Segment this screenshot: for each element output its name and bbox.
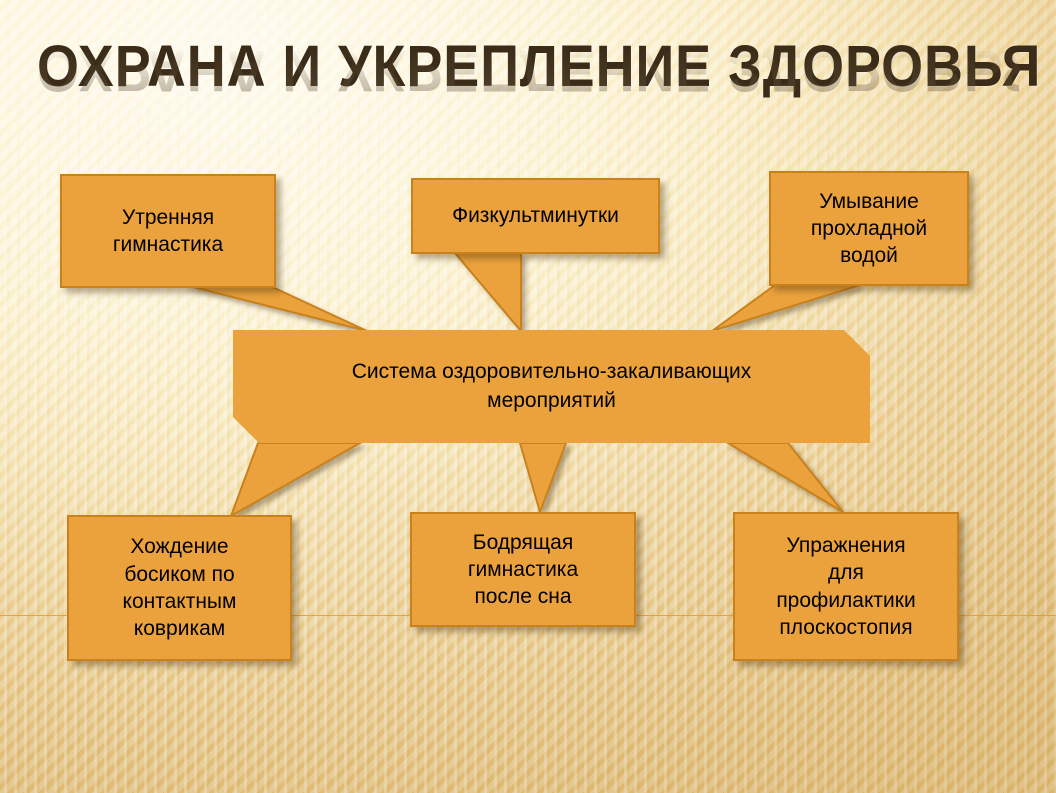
node-invigorating-gym[interactable]: Бодрящая гимнастика после сна (410, 512, 636, 627)
tail-fitness-minutes (455, 253, 521, 331)
node-center-system-label: Система оздоровительно-закаливающих меро… (233, 358, 870, 415)
tail-flatfoot-prevention (728, 443, 843, 512)
node-cool-water-washing-label: Умывание прохладной водой (811, 188, 927, 270)
node-flatfoot-prevention-label: Упражнения для профилактики плоскостопия (776, 532, 915, 641)
node-morning-gymnastics[interactable]: Утренняя гимнастика (60, 174, 276, 288)
title-reflection: ОХРАНА И УКРЕПЛЕНИЕ ЗДОРОВЬЯ (37, 41, 1019, 99)
node-cool-water-washing[interactable]: Умывание прохладной водой (769, 171, 969, 286)
slide-canvas: ОХРАНА И УКРЕПЛЕНИЕ ЗДОРОВЬЯ ОХРАНА И УК… (0, 0, 1056, 793)
tail-morning-gymnastics (185, 285, 367, 331)
node-invigorating-gym-label: Бодрящая гимнастика после сна (468, 529, 578, 611)
tail-cool-water-washing (712, 285, 860, 331)
page-title: ОХРАНА И УКРЕПЛЕНИЕ ЗДОРОВЬЯ ОХРАНА И УК… (0, 38, 1056, 157)
node-fitness-minutes-label: Физкультминутки (452, 202, 619, 229)
node-barefoot-mats[interactable]: Хождение босиком по контактным коврикам (67, 515, 292, 661)
node-morning-gymnastics-label: Утренняя гимнастика (113, 204, 223, 259)
node-center-system[interactable]: Система оздоровительно-закаливающих меро… (233, 330, 870, 443)
node-barefoot-mats-label: Хождение босиком по контактным коврикам (123, 533, 237, 642)
tail-barefoot-mats (231, 443, 360, 516)
node-flatfoot-prevention[interactable]: Упражнения для профилактики плоскостопия (733, 512, 959, 661)
node-fitness-minutes[interactable]: Физкультминутки (411, 178, 660, 254)
title-text: ОХРАНА И УКРЕПЛЕНИЕ ЗДОРОВЬЯ (37, 38, 1019, 96)
tail-invigorating-gym (520, 443, 566, 512)
